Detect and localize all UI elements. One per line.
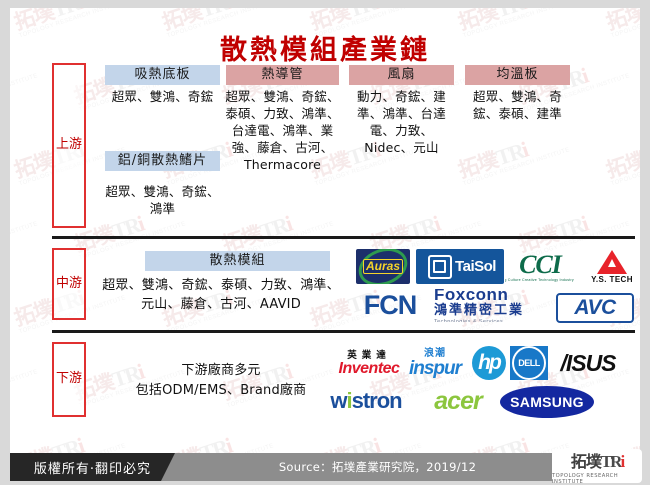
samsung-logo-text: SAMSUNG — [510, 394, 584, 410]
header-fin: 鋁/銅散熱鰭片 — [105, 151, 220, 171]
footer-bar: 版權所有‧翻印必究 Source：拓墣產業研究院，2019/12 拓墣 TRi … — [0, 447, 650, 485]
watermark-mark: 拓墣TRiTOPOLOGY RESEARCH INSTITUTE — [10, 343, 39, 409]
inventec-logo-cn-text: 英業達 — [347, 350, 391, 361]
asus-logo: /ISUS — [552, 349, 624, 377]
avc-logo-text: AVC — [574, 296, 615, 320]
copyright-text: 版權所有‧翻印必究 — [34, 458, 151, 477]
dell-logo: DELL — [510, 346, 548, 380]
ys-tech-logo: Y.S. TECH — [583, 248, 640, 286]
ys-tech-logo-text: Y.S. TECH — [591, 275, 633, 284]
frame-top-edge — [0, 0, 650, 8]
text-vapor-chamber-vendors: 超眾、雙鴻、奇鋐、泰碩、建準 — [462, 88, 573, 122]
wistron-logo-text-part: wistron — [330, 388, 401, 413]
header-fan: 風扇 — [349, 65, 454, 85]
source-text: Source：拓墣產業研究院，2019/12 — [279, 459, 476, 475]
watermark-mark: 拓墣TRiTOPOLOGY RESEARCH INSTITUTE — [10, 195, 39, 261]
inspur-logo: 浪潮 inspur — [402, 346, 468, 380]
text-heat-spreader-vendors: 超眾、雙鴻、奇鋐 — [105, 88, 220, 105]
watermark-mark: 拓墣TRiTOPOLOGY RESEARCH INSTITUTE — [602, 121, 640, 187]
foxconn-logo-subtext: Technologies & Services — [434, 318, 503, 323]
slide-root: 拓墣TRiTOPOLOGY RESEARCH INSTITUTE拓墣TRiTOP… — [0, 0, 650, 485]
dell-oval-icon: DELL — [512, 346, 546, 380]
tri-brand-logo: 拓墣 TRi TOPOLOGY RESEARCH INSTITUTE — [552, 449, 642, 483]
foxconn-logo: Foxconn 鴻準精密工業 Technologies & Services — [434, 289, 544, 322]
stage-label-upstream: 上游 — [52, 63, 86, 228]
hp-logo-text: hp — [478, 351, 500, 375]
ys-tech-triangle-icon — [597, 250, 627, 274]
divider-upstream-midstream — [52, 236, 635, 239]
hp-logo: hp — [472, 346, 506, 380]
auras-logo-text: Auras — [363, 259, 403, 274]
wistron-logo-text: wistron — [330, 388, 401, 414]
text-downstream-line2: 包括ODM/EMS、Brand廠商 — [90, 382, 352, 399]
frame-left-edge — [0, 0, 10, 485]
fcn-logo-text: FCN — [364, 290, 417, 320]
cci-logo-subtext: Cooling Culture Creative Technology Indu… — [505, 278, 575, 282]
acer-logo: acer — [424, 386, 492, 416]
tri-brand-cn-text: 拓墣 — [571, 448, 601, 472]
slide-canvas: 拓墣TRiTOPOLOGY RESEARCH INSTITUTE拓墣TRiTOP… — [10, 8, 640, 477]
fcn-logo: FCN — [356, 290, 424, 320]
stage-label-midstream: 中游 — [52, 248, 86, 320]
text-fan-vendors: 動力、奇鋐、建準、鴻準、台達電、力致、Nidec、元山 — [346, 88, 457, 156]
text-downstream-line1: 下游廠商多元 — [96, 362, 346, 379]
copyright-banner: 版權所有‧翻印必究 — [10, 453, 175, 481]
inspur-logo-text: inspur — [409, 359, 461, 378]
cci-logo: CCI Cooling Culture Creative Technology … — [505, 251, 575, 283]
header-thermal-module: 散熱模組 — [145, 251, 330, 271]
stage-label-upstream-text: 上游 — [56, 138, 82, 153]
divider-midstream-downstream — [52, 330, 635, 333]
cci-logo-text: CCI — [519, 252, 561, 278]
foxconn-logo-text: Foxconn — [434, 289, 508, 303]
tri-brand-subtext: TOPOLOGY RESEARCH INSTITUTE — [552, 473, 642, 485]
text-heat-pipe-vendors: 超眾、雙鴻、奇鋐、泰碩、力致、鴻準、台達電、鴻準、業強、藤倉、古河、Therma… — [224, 88, 341, 173]
page-title: 散熱模組產業鏈 — [10, 28, 640, 67]
auras-logo: Auras — [356, 249, 410, 284]
foxconn-logo-cn-text: 鴻準精密工業 — [434, 303, 524, 318]
text-thermal-module-vendors: 超眾、雙鴻、奇鋐、泰碩、力致、鴻準、元山、藤倉、古河、AAVID — [96, 276, 346, 314]
frame-right-edge — [640, 0, 650, 485]
tri-brand-en-text: TRi — [601, 452, 623, 472]
taisol-logo-text: TaiSol — [455, 258, 496, 275]
stage-label-midstream-text: 中游 — [56, 277, 82, 292]
stage-label-downstream: 下游 — [52, 342, 86, 417]
samsung-logo: SAMSUNG — [500, 386, 594, 418]
watermark-mark: 拓墣TRiTOPOLOGY RESEARCH INSTITUTE — [454, 121, 571, 187]
wistron-logo: wistron — [314, 386, 418, 416]
inventec-logo: 英業達 Inventec — [338, 347, 400, 379]
avc-logo: AVC — [556, 293, 634, 323]
taisol-cube-icon — [428, 255, 452, 279]
header-heat-pipe: 熱導管 — [226, 65, 339, 85]
header-vapor-chamber: 均溫板 — [465, 65, 570, 85]
asus-logo-text: /ISUS — [560, 350, 615, 377]
taisol-logo: TaiSol — [416, 249, 504, 284]
dell-logo-text: DELL — [518, 358, 540, 368]
acer-logo-text: acer — [434, 387, 481, 416]
header-heat-spreader: 吸熱底板 — [105, 65, 220, 85]
stage-label-downstream-text: 下游 — [56, 372, 82, 387]
inventec-logo-text: Inventec — [339, 361, 400, 377]
source-banner: Source：拓墣產業研究院，2019/12 — [175, 453, 580, 481]
text-fin-vendors: 超眾、雙鴻、奇鋐、鴻準 — [105, 183, 220, 217]
